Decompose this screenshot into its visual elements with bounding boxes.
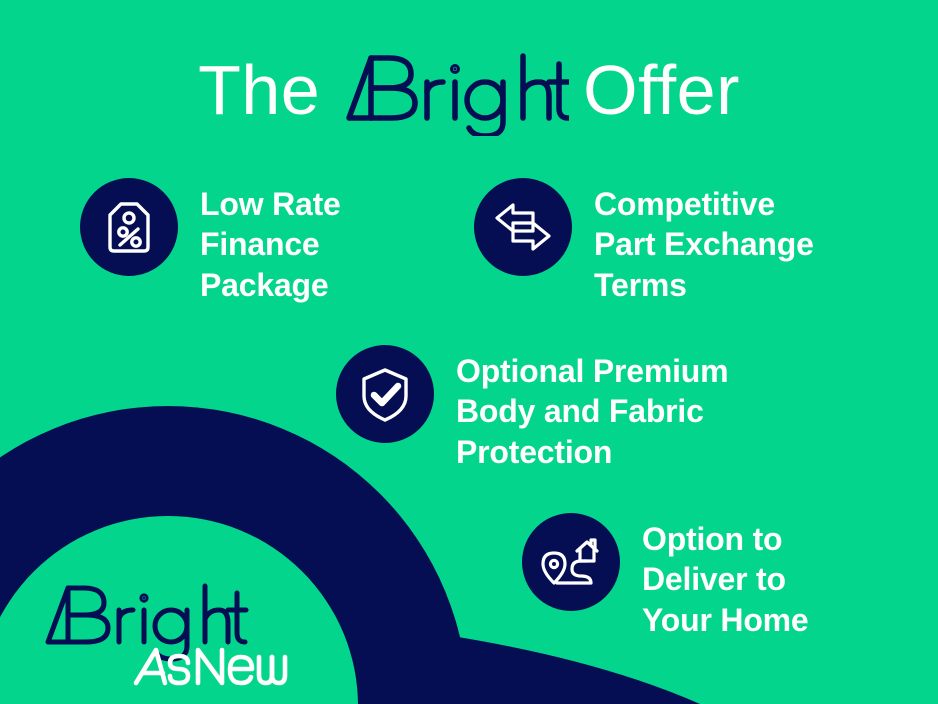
- bright-logo-title: [337, 44, 569, 136]
- promo-graphic: The: [0, 0, 938, 704]
- brand-logo-bright-as-new: [38, 578, 288, 690]
- feature-item-part-exchange: Competitive Part Exchange Terms: [474, 178, 814, 305]
- page-title: The: [0, 44, 938, 136]
- title-prefix: The: [198, 51, 320, 129]
- feature-item-body-fabric-protection: Optional Premium Body and Fabric Protect…: [336, 345, 728, 472]
- title-suffix: Offer: [583, 51, 740, 129]
- exchange-arrows-icon: [493, 197, 553, 257]
- delivery-route-home-icon: [541, 533, 601, 591]
- feature-label: Option to Deliver to Your Home: [642, 513, 809, 640]
- shield-check-icon: [356, 365, 414, 423]
- price-tag-percent-icon: [100, 198, 158, 256]
- feature-icon-circle: [474, 178, 572, 276]
- feature-icon-circle: [336, 345, 434, 443]
- feature-item-home-delivery: Option to Deliver to Your Home: [522, 513, 809, 640]
- navy-wedge-shape: [452, 636, 700, 704]
- feature-icon-circle: [522, 513, 620, 611]
- brand-logo-bright: [48, 586, 246, 659]
- feature-label: Optional Premium Body and Fabric Protect…: [456, 345, 728, 472]
- brand-logo-asnew: [136, 650, 285, 683]
- feature-label: Low Rate Finance Package: [200, 178, 341, 305]
- feature-icon-circle: [80, 178, 178, 276]
- feature-item-low-rate-finance: Low Rate Finance Package: [80, 178, 341, 305]
- feature-label: Competitive Part Exchange Terms: [594, 178, 814, 305]
